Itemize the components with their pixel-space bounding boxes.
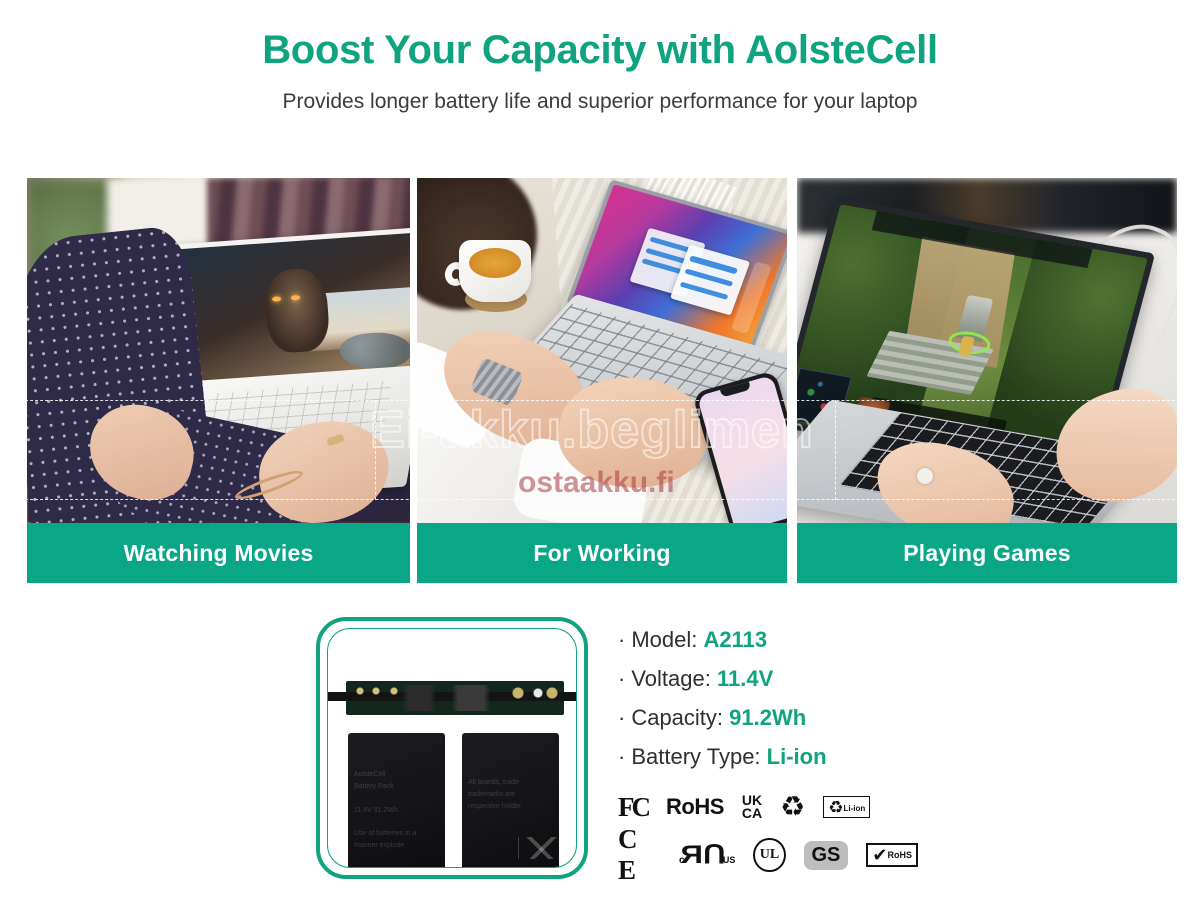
- page-subtitle: Provides longer battery life and superio…: [0, 90, 1200, 114]
- product-details-section: AolsteCellBattery Pack11.4V 91.2WhUse of…: [0, 605, 1200, 900]
- spec-value: A2113: [704, 627, 768, 652]
- ce-icon: C E: [618, 824, 661, 886]
- photo-for-working: [417, 178, 787, 523]
- rohs-check-icon: ✔ RoHS: [866, 843, 918, 867]
- ukca-icon: UKCA: [742, 794, 762, 821]
- bullet-icon: ·: [618, 627, 625, 652]
- card-caption: Watching Movies: [27, 523, 410, 583]
- recycle-icon: ♻: [780, 793, 805, 821]
- spec-item-voltage: ·Voltage: 11.4V: [618, 666, 938, 692]
- spec-label: Capacity:: [631, 705, 723, 730]
- spec-label: Model:: [631, 627, 697, 652]
- ul-recognized-icon: cЯՈUS: [679, 840, 735, 870]
- use-case-card-for-working: For Working: [417, 178, 787, 583]
- certification-row-2: C E cЯՈUS UL GS ✔ RoHS: [618, 831, 918, 879]
- certification-row-1: FC RoHS UKCA ♻ ♻ Li-ion: [618, 783, 918, 831]
- spec-value: 91.2Wh: [729, 705, 806, 730]
- card-caption: Playing Games: [797, 523, 1177, 583]
- use-case-cards: Watching Movies: [0, 178, 1200, 583]
- li-ion-recycle-icon: ♻ Li-ion: [823, 796, 870, 818]
- rohs-icon: RoHS: [666, 794, 724, 820]
- use-case-card-watching-movies: Watching Movies: [27, 178, 410, 583]
- ul-listed-icon: UL: [753, 838, 785, 872]
- bullet-icon: ·: [618, 744, 625, 769]
- spec-list: ·Model: A2113 ·Voltage: 11.4V ·Capacity:…: [618, 627, 938, 783]
- header: Boost Your Capacity with AolsteCell Prov…: [0, 0, 1200, 114]
- spec-item-model: ·Model: A2113: [618, 627, 938, 653]
- photo-playing-games: [797, 178, 1177, 523]
- spec-item-battery-type: ·Battery Type: Li-ion: [618, 744, 938, 770]
- bullet-icon: ·: [618, 666, 625, 691]
- spec-label: Battery Type:: [631, 744, 760, 769]
- bullet-icon: ·: [618, 705, 625, 730]
- fcc-icon: FC: [618, 792, 648, 823]
- spec-label: Voltage:: [631, 666, 711, 691]
- spec-value: Li-ion: [767, 744, 827, 769]
- product-battery-photo: AolsteCellBattery Pack11.4V 91.2WhUse of…: [327, 628, 577, 868]
- use-case-card-playing-games: Playing Games: [797, 178, 1177, 583]
- spec-value: 11.4V: [717, 666, 773, 691]
- product-marketing-page: Boost Your Capacity with AolsteCell Prov…: [0, 0, 1200, 900]
- product-image-frame: AolsteCellBattery Pack11.4V 91.2WhUse of…: [316, 617, 588, 879]
- card-caption: For Working: [417, 523, 787, 583]
- gs-icon: GS: [804, 841, 849, 870]
- page-title: Boost Your Capacity with AolsteCell: [0, 28, 1200, 72]
- spec-item-capacity: ·Capacity: 91.2Wh: [618, 705, 938, 731]
- photo-watching-movies: [27, 178, 410, 523]
- certification-badges: FC RoHS UKCA ♻ ♻ Li-ion C E cЯՈUS UL GS: [618, 783, 918, 879]
